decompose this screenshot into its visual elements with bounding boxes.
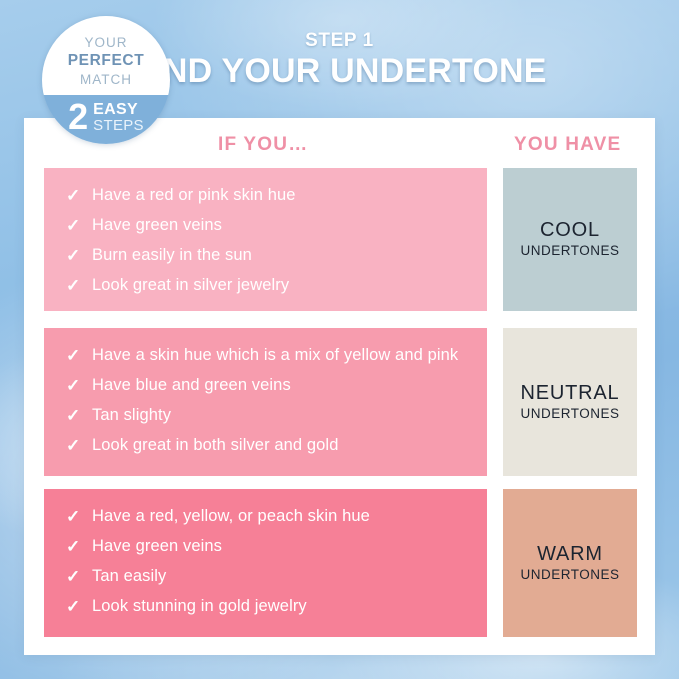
criteria-item: ✓ Have green veins bbox=[66, 215, 471, 238]
badge-line-your: YOUR bbox=[42, 34, 170, 51]
criteria-item: ✓ Burn easily in the sun bbox=[66, 245, 471, 268]
criteria-item: ✓ Have blue and green veins bbox=[66, 375, 471, 398]
criteria-text: Look great in silver jewelry bbox=[92, 275, 289, 296]
criteria-text: Tan easily bbox=[92, 566, 166, 587]
undertone-swatch-cool: COOL UNDERTONES bbox=[503, 168, 637, 311]
check-icon: ✓ bbox=[66, 435, 92, 458]
criteria-text: Have blue and green veins bbox=[92, 375, 291, 396]
badge-label-easy: EASY bbox=[93, 102, 144, 118]
check-icon: ✓ bbox=[66, 405, 92, 428]
badge-line-perfect: PERFECT bbox=[42, 51, 170, 71]
check-icon: ✓ bbox=[66, 345, 92, 368]
check-icon: ✓ bbox=[66, 275, 92, 298]
check-icon: ✓ bbox=[66, 566, 92, 589]
check-icon: ✓ bbox=[66, 245, 92, 268]
criteria-text: Look stunning in gold jewelry bbox=[92, 596, 307, 617]
criteria-text: Have green veins bbox=[92, 536, 222, 557]
criteria-text: Have a red, yellow, or peach skin hue bbox=[92, 506, 370, 527]
undertone-subtitle: UNDERTONES bbox=[520, 243, 619, 259]
criteria-block: ✓ Have a red or pink skin hue ✓ Have gre… bbox=[44, 168, 487, 311]
badge-steps-stack: EASY STEPS bbox=[93, 102, 144, 133]
undertone-swatch-neutral: NEUTRAL UNDERTONES bbox=[503, 328, 637, 476]
criteria-item: ✓ Look stunning in gold jewelry bbox=[66, 596, 471, 619]
criteria-text: Look great in both silver and gold bbox=[92, 435, 338, 456]
criteria-item: ✓ Tan easily bbox=[66, 566, 471, 589]
perfect-match-badge: YOUR PERFECT MATCH 2 EASY STEPS bbox=[42, 16, 170, 144]
criteria-text: Tan slighty bbox=[92, 405, 171, 426]
column-header-you-have: YOU HAVE bbox=[514, 134, 621, 156]
criteria-item: ✓ Look great in both silver and gold bbox=[66, 435, 471, 458]
badge-line-match: MATCH bbox=[42, 71, 170, 88]
criteria-text: Burn easily in the sun bbox=[92, 245, 252, 266]
undertone-subtitle: UNDERTONES bbox=[520, 406, 619, 422]
criteria-item: ✓ Have green veins bbox=[66, 536, 471, 559]
criteria-item: ✓ Have a red or pink skin hue bbox=[66, 185, 471, 208]
check-icon: ✓ bbox=[66, 536, 92, 559]
column-header-if-you: IF YOU… bbox=[218, 134, 308, 156]
criteria-item: ✓ Have a skin hue which is a mix of yell… bbox=[66, 345, 471, 368]
undertone-swatch-warm: WARM UNDERTONES bbox=[503, 489, 637, 637]
check-icon: ✓ bbox=[66, 375, 92, 398]
check-icon: ✓ bbox=[66, 506, 92, 529]
check-icon: ✓ bbox=[66, 215, 92, 238]
criteria-text: Have a red or pink skin hue bbox=[92, 185, 296, 206]
undertone-name: WARM bbox=[537, 543, 603, 566]
criteria-item: ✓ Tan slighty bbox=[66, 405, 471, 428]
infographic-poster: STEP 1 FIND YOUR UNDERTONE YOUR PERFECT … bbox=[0, 0, 679, 679]
check-icon: ✓ bbox=[66, 185, 92, 208]
undertone-subtitle: UNDERTONES bbox=[520, 567, 619, 583]
check-icon: ✓ bbox=[66, 596, 92, 619]
criteria-block: ✓ Have a skin hue which is a mix of yell… bbox=[44, 328, 487, 476]
criteria-text: Have a skin hue which is a mix of yellow… bbox=[92, 345, 458, 366]
undertone-name: NEUTRAL bbox=[521, 382, 620, 405]
badge-top-half: YOUR PERFECT MATCH bbox=[42, 16, 170, 95]
badge-label-steps: STEPS bbox=[93, 118, 144, 133]
undertone-name: COOL bbox=[540, 219, 600, 242]
criteria-text: Have green veins bbox=[92, 215, 222, 236]
criteria-item: ✓ Look great in silver jewelry bbox=[66, 275, 471, 298]
badge-bottom-half: 2 EASY STEPS bbox=[42, 95, 170, 144]
criteria-item: ✓ Have a red, yellow, or peach skin hue bbox=[66, 506, 471, 529]
criteria-block: ✓ Have a red, yellow, or peach skin hue … bbox=[44, 489, 487, 637]
badge-step-number: 2 bbox=[68, 102, 88, 133]
